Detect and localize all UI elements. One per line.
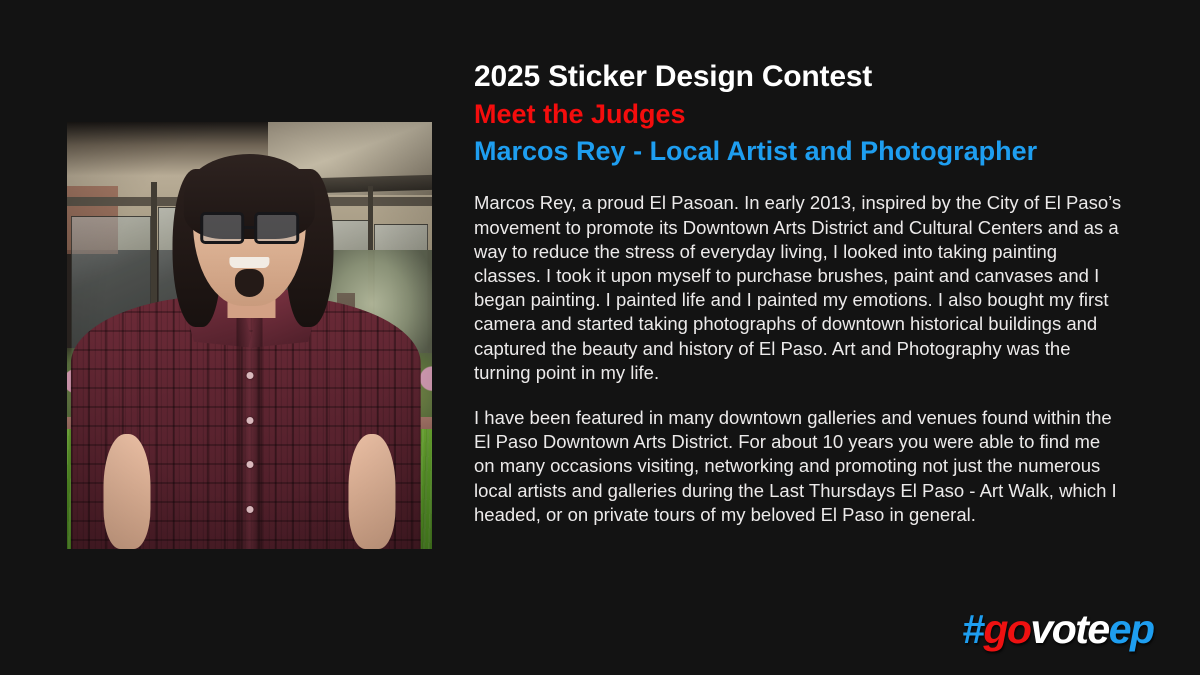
photo-subject xyxy=(67,122,432,549)
judge-name-role: Marcos Rey - Local Artist and Photograph… xyxy=(474,134,1124,169)
judge-portrait-photo xyxy=(67,122,432,549)
subject-shirt-placket xyxy=(237,310,263,549)
content-column: 2025 Sticker Design Contest Meet the Jud… xyxy=(474,58,1124,527)
subject-eyeglasses xyxy=(200,212,299,244)
photo-canvas xyxy=(67,122,432,549)
eyeglass-bridge xyxy=(245,226,255,229)
logo-hash-symbol: # xyxy=(962,606,983,652)
slide-root: 2025 Sticker Design Contest Meet the Jud… xyxy=(0,0,1200,675)
logo-text-go: go xyxy=(983,606,1030,652)
eyeglass-lens-right xyxy=(254,212,298,244)
logo-text-ep: ep xyxy=(1109,606,1154,652)
logo-text-vote: vote xyxy=(1030,606,1108,652)
subject-goatee xyxy=(235,269,264,297)
eyeglass-lens-left xyxy=(200,212,244,244)
page-title: 2025 Sticker Design Contest xyxy=(474,58,1124,95)
subject-arm-left xyxy=(104,434,151,549)
bio-paragraph-1: Marcos Rey, a proud El Pasoan. In early … xyxy=(474,191,1124,385)
subject-arm-right xyxy=(348,434,395,549)
subject-shirt-button xyxy=(247,372,254,379)
subject-shirt-button xyxy=(247,417,254,424)
section-subtitle: Meet the Judges xyxy=(474,97,1124,132)
subject-smile xyxy=(229,257,269,268)
judge-biography: Marcos Rey, a proud El Pasoan. In early … xyxy=(474,191,1124,527)
govoteep-logo: #govoteep xyxy=(962,609,1154,650)
bio-paragraph-2: I have been featured in many downtown ga… xyxy=(474,406,1124,527)
